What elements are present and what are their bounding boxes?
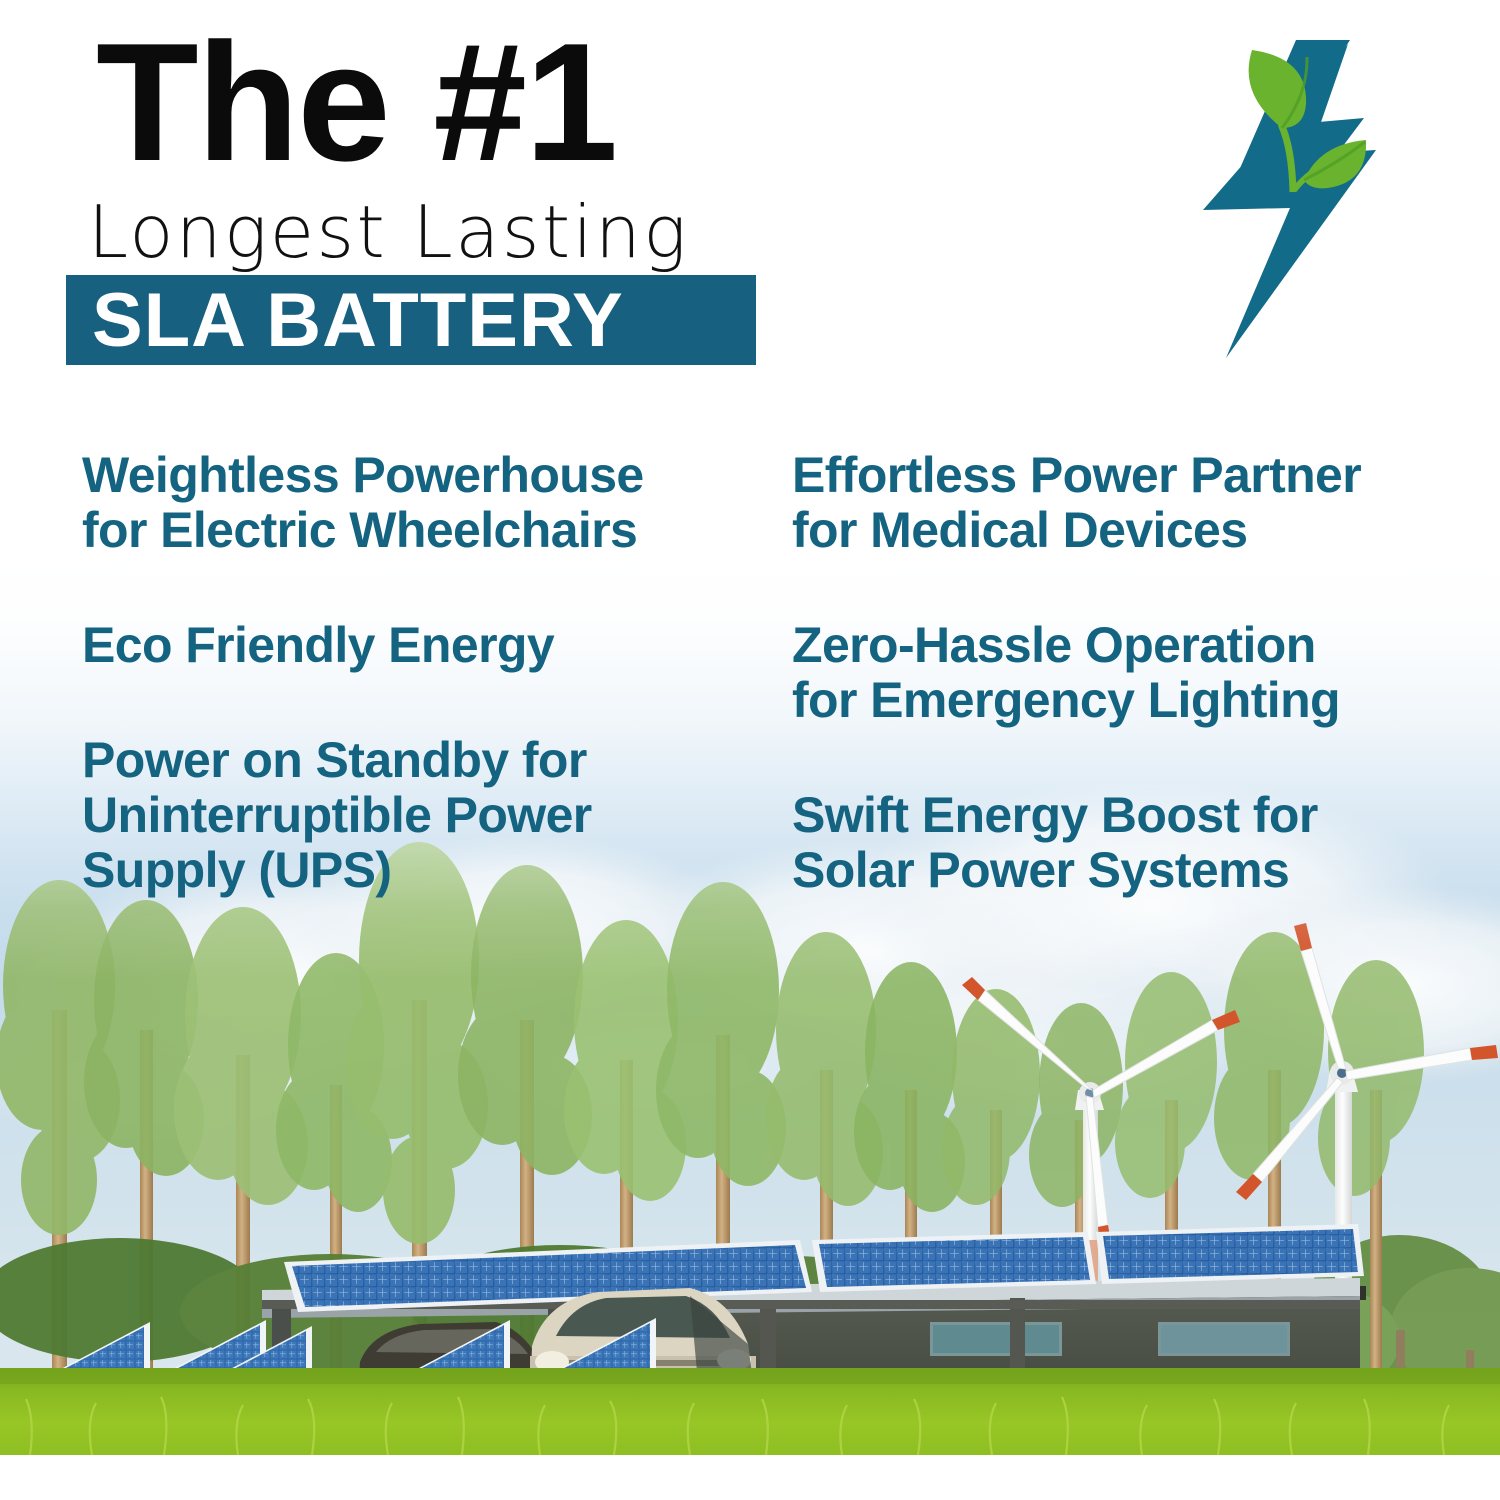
photo-bottom-white-margin [0, 1455, 1500, 1500]
feature-item: Power on Standby for Uninterruptible Pow… [82, 733, 742, 898]
headline-subtitle-text: Longest Lasting [88, 196, 689, 268]
feature-item: Weightless Powerhouse for Electric Wheel… [82, 448, 742, 558]
headline-banner: SLA BATTERY [66, 275, 756, 365]
feature-item: Effortless Power Partner for Medical Dev… [792, 448, 1452, 558]
carport-solar-panel-3 [1096, 1224, 1364, 1284]
headline-main-text: The #1 [96, 18, 616, 186]
feature-item: Swift Energy Boost for Solar Power Syste… [792, 788, 1452, 898]
feature-column-left: Weightless Powerhouse for Electric Wheel… [82, 448, 742, 958]
feature-item: Zero-Hassle Operation for Emergency Ligh… [792, 618, 1452, 728]
feature-column-right: Effortless Power Partner for Medical Dev… [792, 448, 1452, 958]
poster-canvas: The #1 Longest Lasting SLA BATTERY Weigh… [0, 0, 1500, 1500]
headline-banner-text: SLA BATTERY [92, 277, 624, 364]
eco-lightning-bolt-logo [1178, 32, 1428, 362]
grass-field [0, 1368, 1500, 1460]
logo-icon [1178, 32, 1428, 362]
carport-solar-panel-2 [812, 1232, 1096, 1292]
feature-item: Eco Friendly Energy [82, 618, 742, 673]
